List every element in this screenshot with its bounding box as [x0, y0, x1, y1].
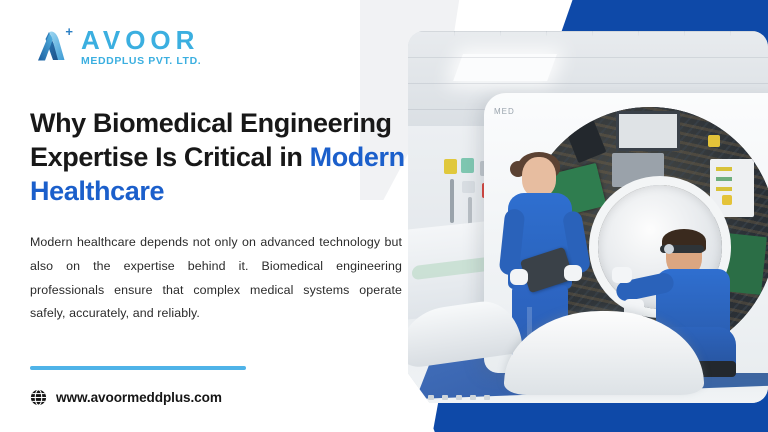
head-loupe-icon — [660, 245, 704, 253]
grey-module — [612, 153, 664, 187]
headline-line-2: Expertise Is Critical in — [30, 142, 310, 172]
photo-scene: MED — [408, 31, 768, 403]
scanner-brand-label: MED — [494, 107, 515, 116]
yellow-connector-2 — [722, 195, 732, 205]
plus-icon: + — [65, 25, 73, 38]
headline-accent-modern: Modern — [310, 142, 405, 172]
nurse-glove-left — [510, 269, 528, 285]
nurse-head — [522, 157, 556, 197]
nurse-glove-right — [564, 265, 582, 281]
promotional-banner: MED — [0, 0, 768, 432]
outlet-white — [462, 181, 475, 193]
brand-wordmark: AVOOR MEDDPLUS PVT. LTD. — [81, 27, 201, 67]
page-title: Why Biomedical Engineering Expertise Is … — [30, 106, 406, 208]
yellow-connector-1 — [708, 135, 720, 147]
engineer-glove-1 — [612, 267, 632, 283]
brand-name: AVOOR — [81, 27, 201, 53]
brand-subtitle: MEDDPLUS PVT. LTD. — [81, 56, 201, 67]
a-plus-logo-icon: + — [30, 26, 72, 68]
outlet-yellow — [444, 159, 457, 174]
floor-marker-dots — [414, 395, 554, 401]
detector-module — [616, 111, 680, 151]
body-paragraph: Modern healthcare depends not only on ad… — [30, 231, 402, 326]
outlet-green — [461, 158, 474, 173]
wall-tube-1 — [450, 179, 454, 223]
hero-photo: MED — [408, 31, 768, 403]
headline-line-1: Why Biomedical Engineering — [30, 108, 392, 138]
headline-accent-healthcare: Healthcare — [30, 176, 164, 206]
label-card — [710, 159, 754, 217]
content-column: + AVOOR MEDDPLUS PVT. LTD. Why Biomedica… — [0, 0, 430, 432]
brand-logo[interactable]: + AVOOR MEDDPLUS PVT. LTD. — [30, 26, 430, 68]
